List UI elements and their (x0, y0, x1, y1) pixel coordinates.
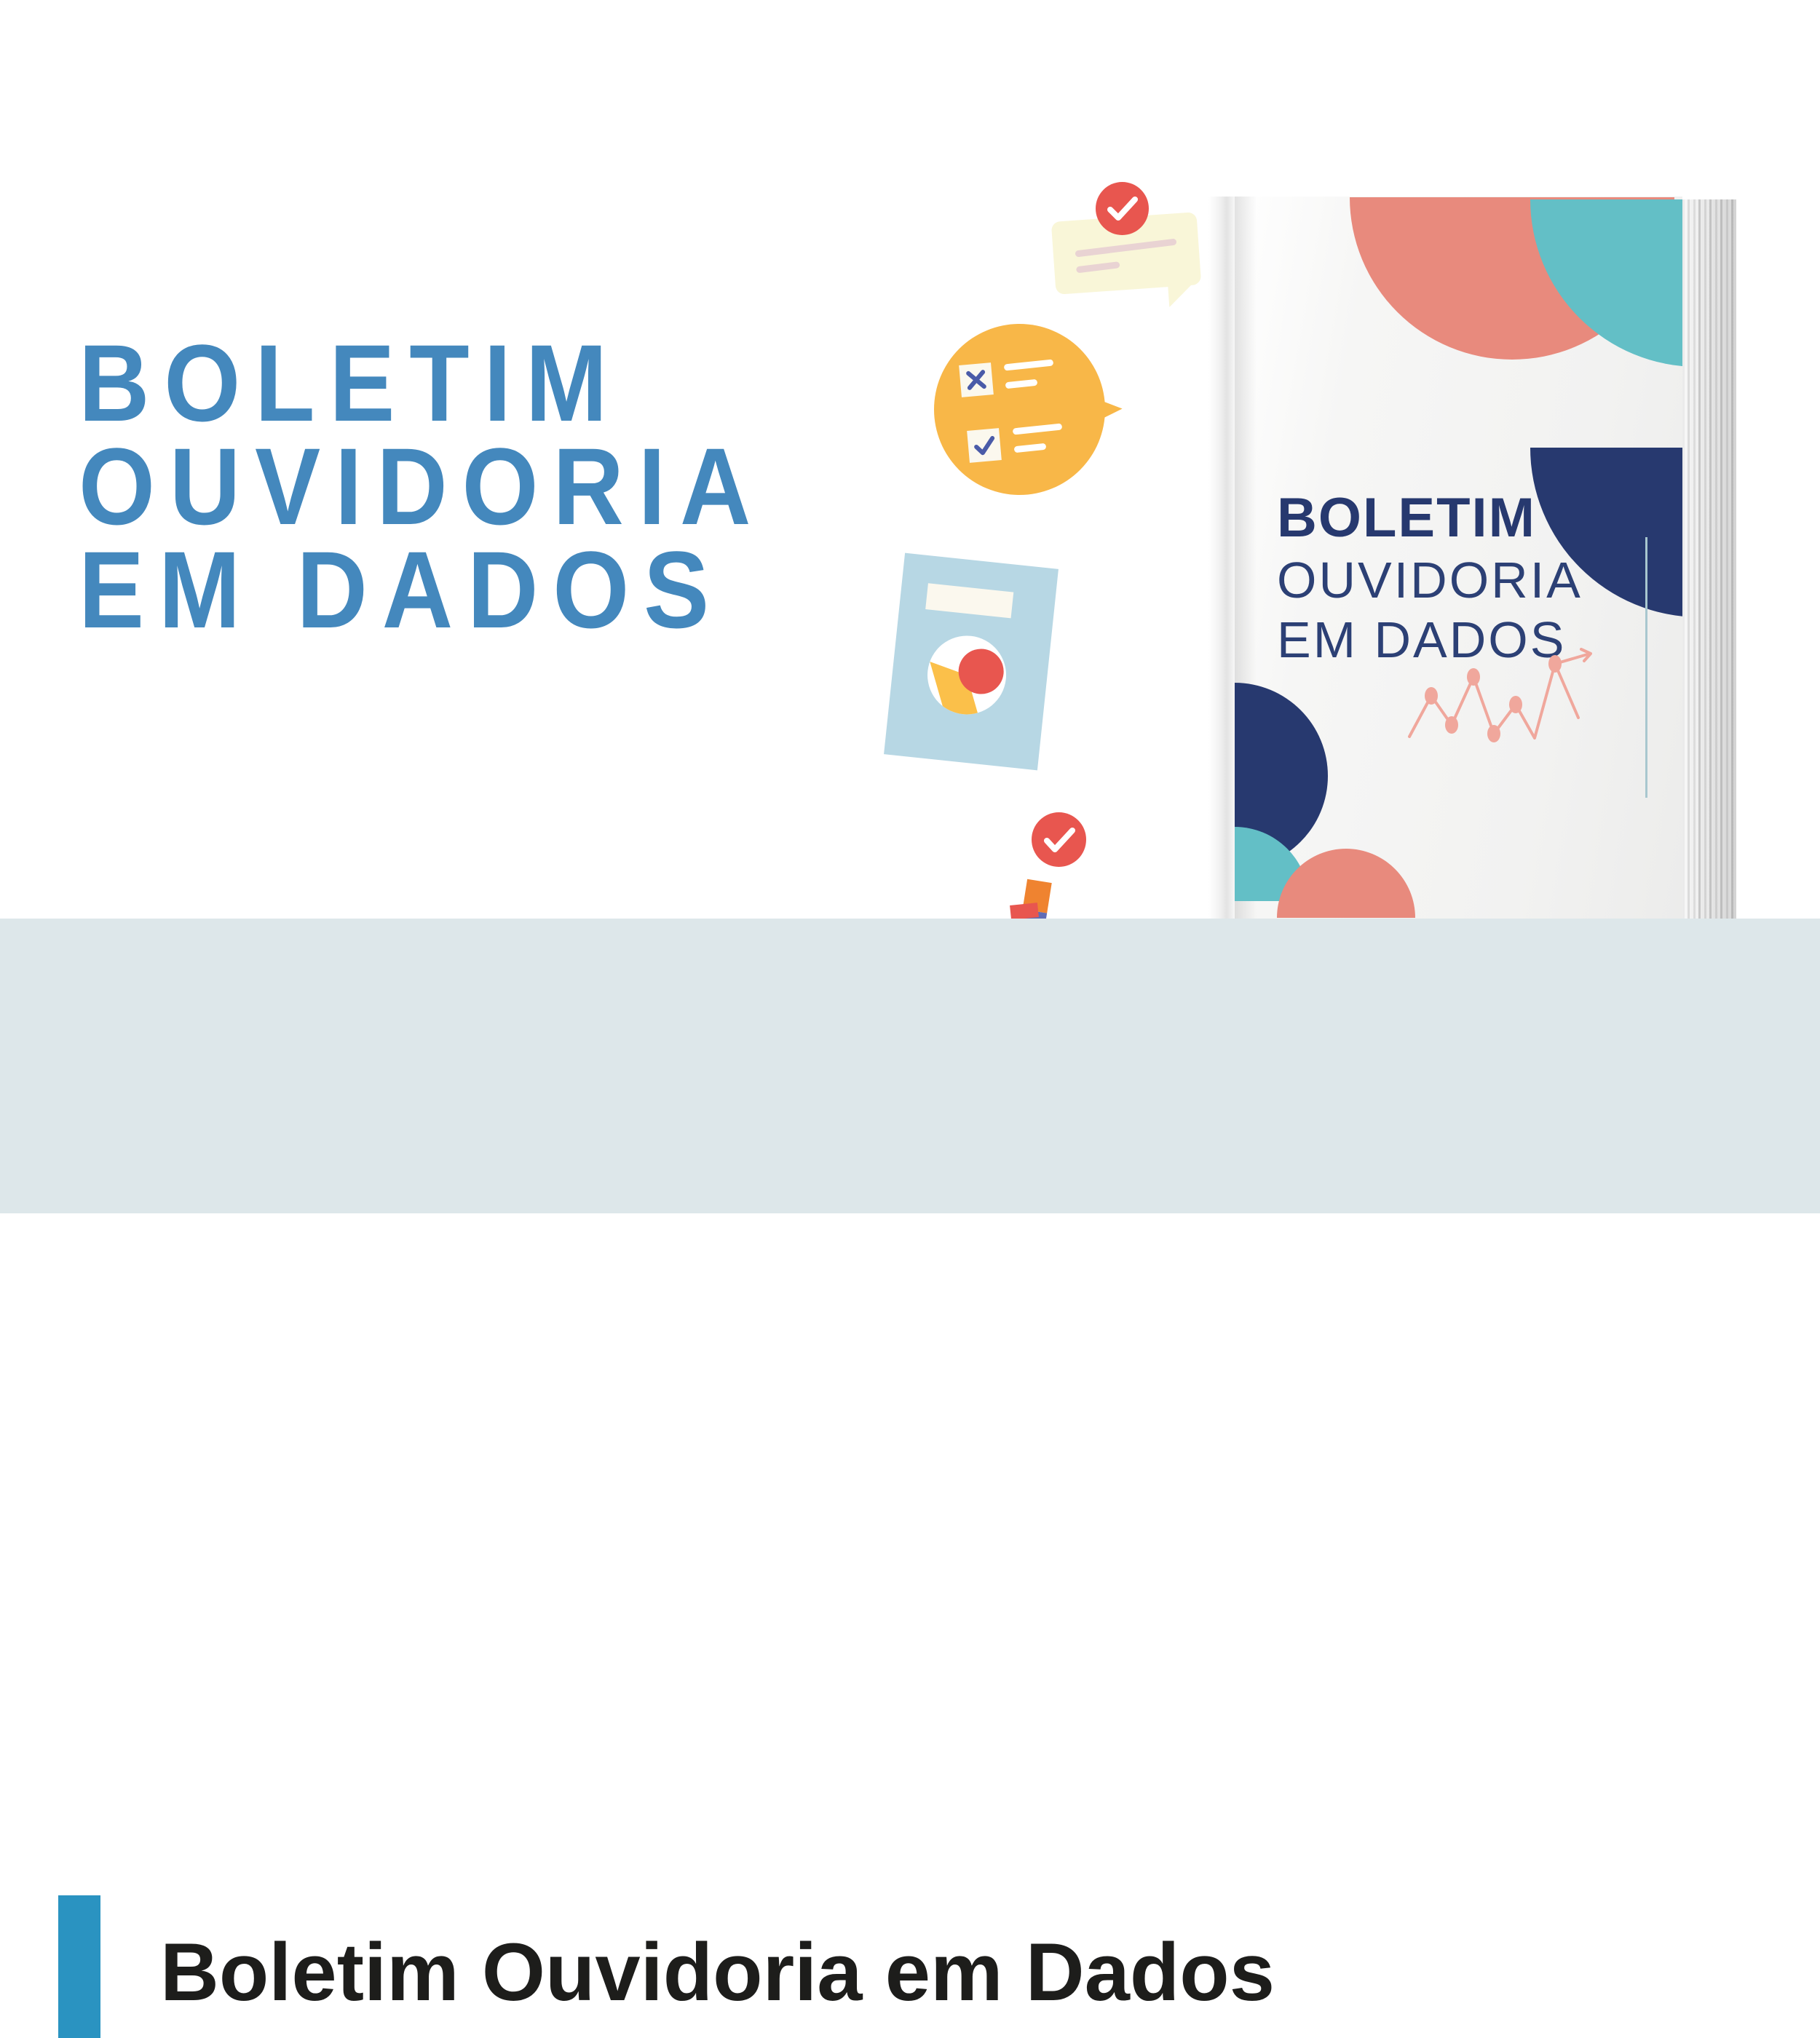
accent-bar (58, 1895, 100, 2038)
book-page-edges (1682, 199, 1736, 919)
bubble-body (934, 324, 1105, 495)
cover-shape-coral-bottom (1277, 849, 1415, 919)
checklist-bubble-icon (934, 324, 1112, 502)
caption-title: Boletim Ouvidoria em Dados (160, 1925, 1275, 2019)
check-badge-icon (1032, 812, 1086, 867)
pie-chart-icon (924, 632, 1010, 718)
page-title: BOLETIM OUVIDORIA EM DADOS (79, 331, 852, 641)
report-card-icon (884, 553, 1059, 771)
caption-bar: Boletim Ouvidoria em Dados (0, 919, 1820, 1213)
book-mockup: BOLETIM OUVIDORIA EM DADOS (1208, 197, 1736, 919)
check-badge-icon (1096, 182, 1149, 235)
book-spine (1208, 197, 1235, 919)
page-title-line-3: EM DADOS (79, 538, 852, 641)
page-title-line-2: OUVIDORIA (79, 435, 852, 538)
book-cover: BOLETIM OUVIDORIA EM DADOS (1235, 197, 1682, 919)
card-header-bar (925, 583, 1013, 618)
cover-title-line-2: OUVIDORIA (1277, 550, 1661, 610)
x-icon (959, 362, 994, 397)
check-icon (967, 428, 1002, 463)
paper-chip-icon (1010, 903, 1039, 919)
cover-title-line-1: BOLETIM (1277, 486, 1661, 550)
page-title-line-1: BOLETIM (79, 331, 852, 435)
bubble-text-line (1075, 239, 1176, 258)
cover-trend-chart (1406, 648, 1603, 750)
hero-banner: BOLETIM OUVIDORIA EM DADOS (0, 0, 1820, 919)
bubble-text-line (1076, 261, 1120, 273)
bubble-tail (1168, 284, 1194, 307)
book-cover-title: BOLETIM OUVIDORIA EM DADOS (1277, 486, 1661, 670)
